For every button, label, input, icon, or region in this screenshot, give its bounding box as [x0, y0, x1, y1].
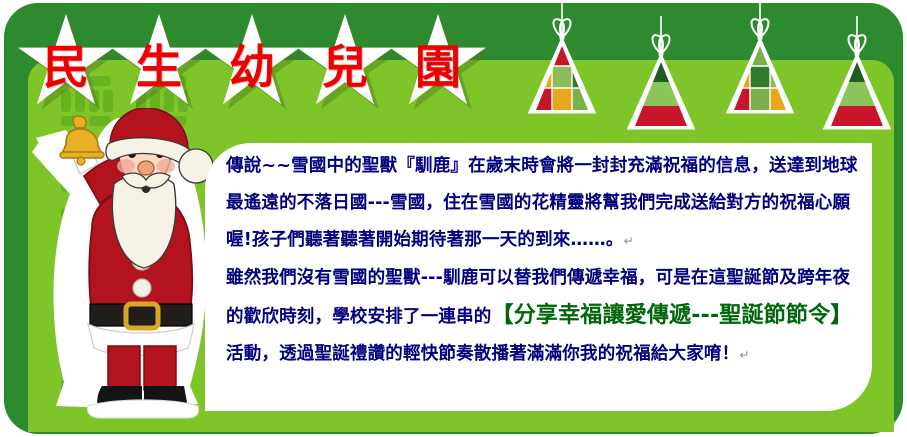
- title-star-1: 民: [16, 14, 124, 118]
- santa-claus-figure: [22, 108, 222, 420]
- title-star-3: 幼: [202, 14, 310, 118]
- message-body: 傳說~~雪國中的聖獸『馴鹿』在歲末時會將一封封充滿祝福的信息，送達到地球最遙遠的…: [226, 148, 866, 374]
- christmas-tree-puzzle-icon: [710, 0, 810, 125]
- christmas-poster: 傳說~~雪國中的聖獸『馴鹿』在歲末時會將一封封充滿祝福的信息，送達到地球最遙遠的…: [0, 0, 907, 437]
- event-title-highlight: 【分享幸福讓愛傳遞---聖誕節節令】: [492, 303, 853, 328]
- title-char-1: 民: [16, 44, 116, 90]
- paragraph-2: 雖然我們沒有雪國的聖獸---馴鹿可以替我們傳遞幸福，可是在這聖誕節及跨年夜的歡欣…: [226, 260, 866, 374]
- title-char-3: 幼: [202, 44, 302, 90]
- christmas-tree-striped-icon: [807, 16, 907, 141]
- title-char-2: 生: [109, 44, 209, 90]
- hanging-ornaments-group: [512, 0, 907, 125]
- title-char-4: 兒: [295, 44, 395, 90]
- paragraph-1-text: 傳說~~雪國中的聖獸『馴鹿』在歲末時會將一封封充滿祝福的信息，送達到地球最遙遠的…: [226, 156, 858, 250]
- title-char-5: 園: [388, 44, 488, 90]
- title-star-2: 生: [109, 14, 217, 118]
- paragraph-2-text-tail: 活動，透過聖誕禮讚的輕快節奏散播著滿滿你我的祝福給大家唷！: [226, 344, 739, 364]
- title-star-5: 園: [388, 14, 496, 118]
- title-star-4: 兒: [295, 14, 403, 118]
- christmas-tree-striped-icon: [611, 16, 711, 141]
- school-name-stars: 民 生 幼 兒 園: [16, 14, 496, 122]
- christmas-tree-puzzle-icon: [512, 0, 612, 125]
- return-mark-icon: ↵: [739, 348, 749, 362]
- return-mark-icon: ↵: [624, 234, 634, 248]
- paragraph-1: 傳說~~雪國中的聖獸『馴鹿』在歲末時會將一封封充滿祝福的信息，送達到地球最遙遠的…: [226, 148, 866, 260]
